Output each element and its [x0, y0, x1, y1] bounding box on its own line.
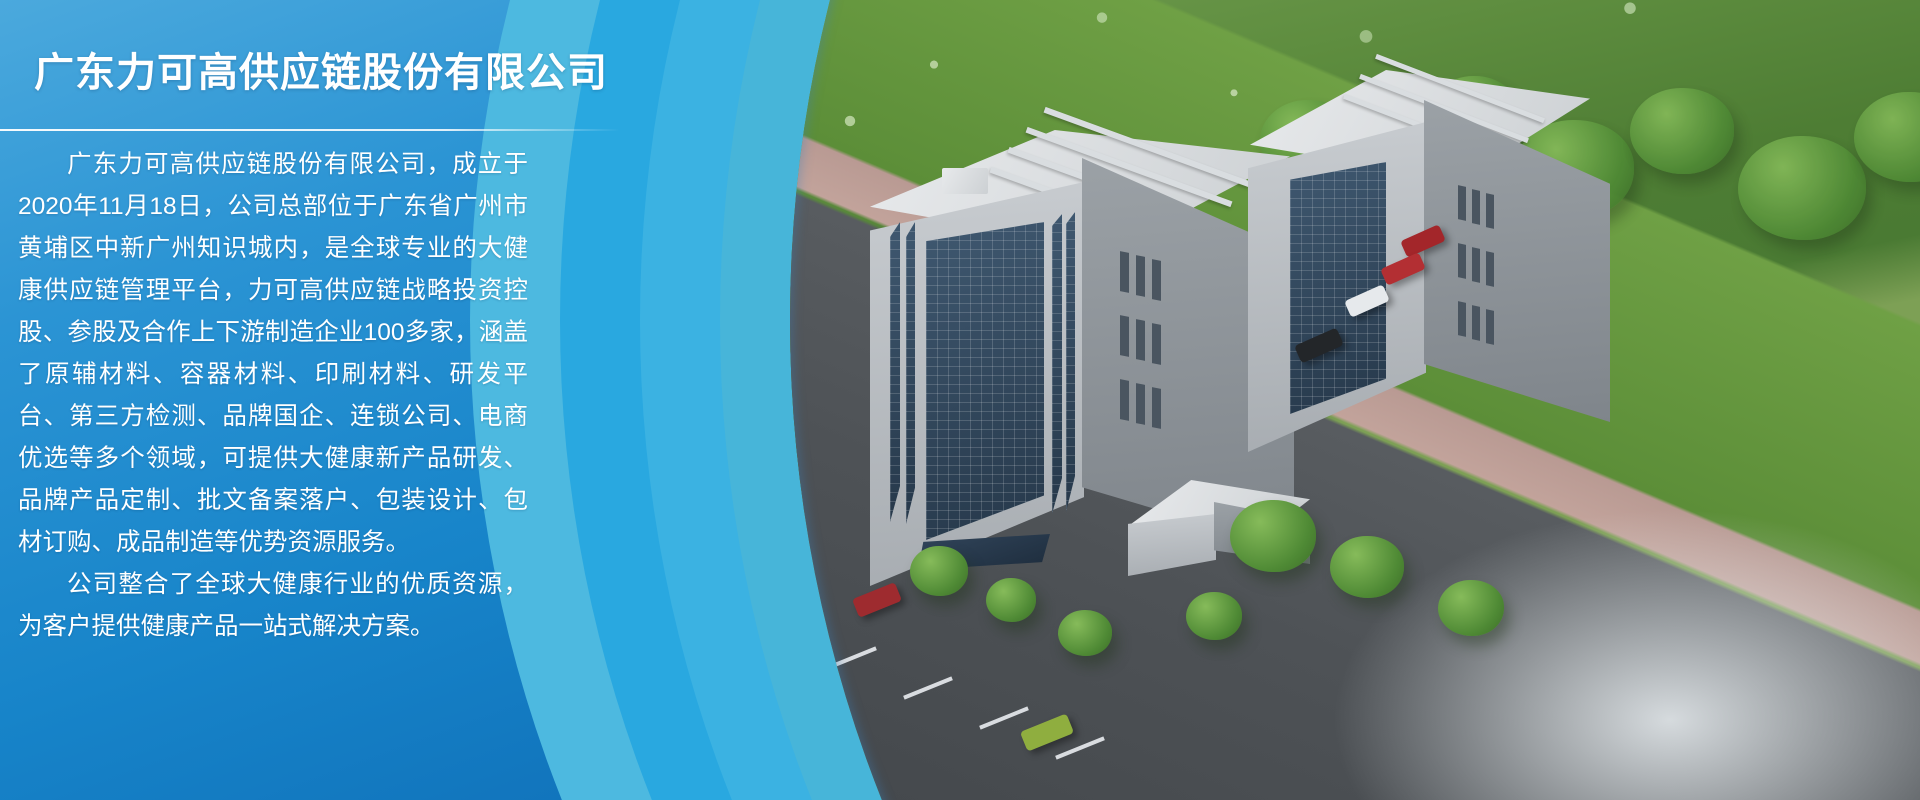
building-window: [1152, 259, 1161, 301]
roof-equipment: [942, 168, 988, 194]
page-title: 广东力可高供应链股份有限公司: [34, 48, 608, 98]
tree: [910, 546, 968, 596]
text-column: 广东力可高供应链股份有限公司 广东力可高供应链股份有限公司，成立于2020年11…: [0, 0, 640, 800]
tree: [1058, 610, 1112, 656]
building-glass-strip: [1066, 212, 1075, 512]
building-window: [1136, 383, 1145, 425]
campus-photo-inner: [790, 0, 1920, 800]
building-window: [1458, 243, 1466, 279]
building-window: [1120, 251, 1129, 293]
tree: [1738, 136, 1866, 240]
building-window: [1472, 189, 1480, 225]
building-window: [1486, 309, 1494, 345]
building-window: [1136, 319, 1145, 361]
office-building-secondary: [1220, 70, 1640, 490]
building-glass-curtain-wall: [926, 222, 1044, 540]
road-lane-marking: [827, 646, 877, 669]
building-window: [1458, 301, 1466, 337]
building-window: [1136, 255, 1145, 297]
tree: [1186, 592, 1242, 640]
title-divider: [0, 129, 620, 131]
car-green: [1020, 713, 1074, 751]
building-window: [1458, 185, 1466, 221]
road-lane-marking: [1055, 736, 1105, 759]
company-profile-banner: 广东力可高供应链股份有限公司 广东力可高供应链股份有限公司，成立于2020年11…: [0, 0, 1920, 800]
campus-rendering: [790, 0, 1920, 800]
building-window: [1120, 379, 1129, 421]
company-description: 广东力可高供应链股份有限公司，成立于2020年11月18日，公司总部位于广东省广…: [18, 144, 528, 648]
building-facade-right: [1424, 100, 1610, 422]
tree: [1630, 88, 1734, 174]
road-lane-marking: [979, 706, 1029, 729]
building-window: [1152, 387, 1161, 429]
building-window: [1472, 247, 1480, 283]
company-description-paragraph-2: 公司整合了全球大健康行业的优质资源，为客户提供健康产品一站式解决方案。: [18, 564, 528, 648]
company-description-paragraph-1: 广东力可高供应链股份有限公司，成立于2020年11月18日，公司总部位于广东省广…: [18, 144, 528, 564]
building-window: [1152, 323, 1161, 365]
building-window: [1486, 193, 1494, 229]
road-lane-marking: [903, 676, 953, 699]
building-window: [1120, 315, 1129, 357]
campus-photo-disc: [790, 0, 1920, 800]
tree: [1330, 536, 1404, 598]
utility-facade: [1128, 514, 1216, 576]
building-glass-strip: [906, 222, 915, 524]
building-window: [1486, 251, 1494, 287]
tree: [1438, 580, 1504, 636]
tree: [1230, 500, 1316, 572]
building-window: [1472, 305, 1480, 341]
building-glass-strip: [890, 222, 900, 522]
tree: [986, 578, 1036, 622]
building-glass-strip: [1052, 214, 1062, 514]
